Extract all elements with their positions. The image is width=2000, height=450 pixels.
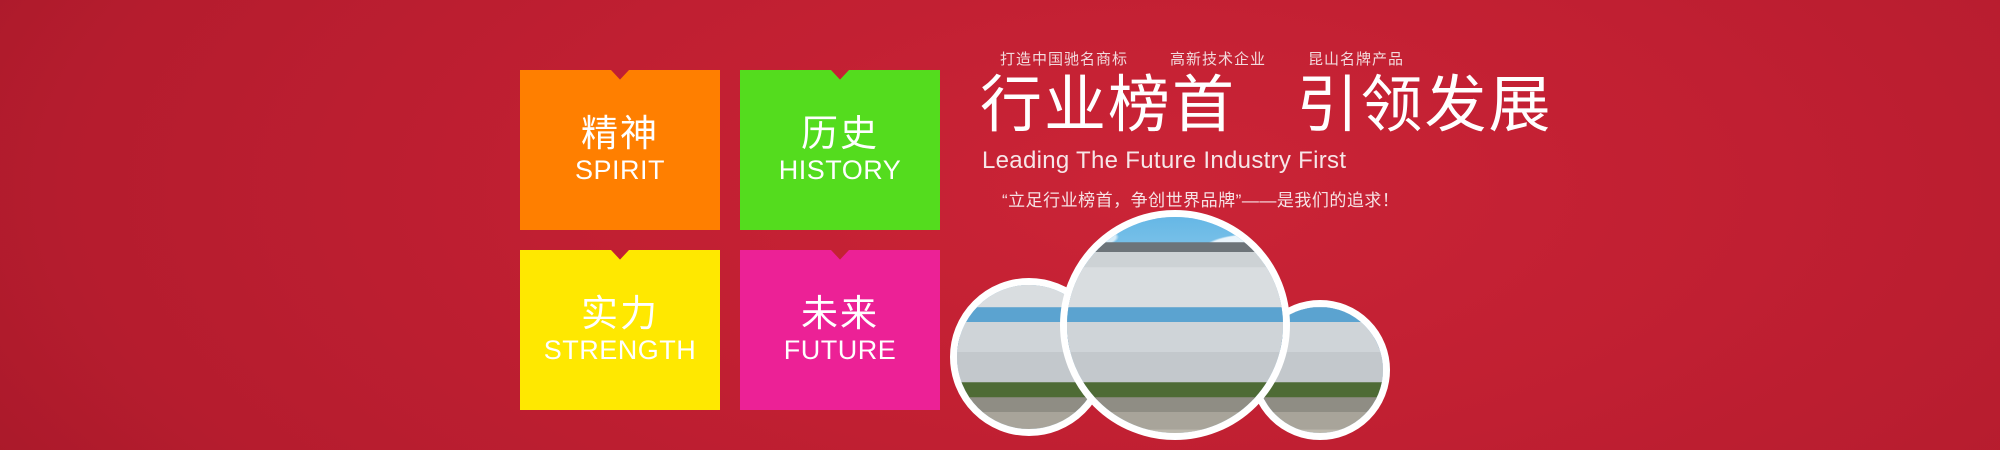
headline-subtitle: Leading The Future Industry First bbox=[982, 147, 1520, 175]
credential-row: 打造中国驰名商标 高新技术企业 昆山名牌产品 bbox=[1000, 48, 1520, 69]
credential-item-brand: 昆山名牌产品 bbox=[1308, 48, 1404, 69]
page-title: 行业榜首 引领发展 bbox=[980, 75, 1520, 137]
value-tile-grid: 精神 SPIRIT 历史 HISTORY 实力 STRENGTH 未来 FUTU… bbox=[520, 70, 940, 410]
tile-history-cn: 历史 bbox=[801, 114, 879, 154]
tile-strength-en: STRENGTH bbox=[544, 335, 697, 366]
factory-photo-cluster bbox=[950, 200, 1390, 450]
tile-future[interactable]: 未来 FUTURE bbox=[740, 250, 940, 410]
headline-part-left: 行业榜首 bbox=[980, 71, 1236, 140]
tile-future-en: FUTURE bbox=[784, 335, 897, 366]
tile-history[interactable]: 历史 HISTORY bbox=[740, 70, 940, 230]
tile-future-cn: 未来 bbox=[801, 294, 879, 334]
tile-strength[interactable]: 实力 STRENGTH bbox=[520, 250, 720, 410]
tile-strength-cn: 实力 bbox=[581, 294, 659, 334]
factory-building-photo bbox=[1060, 210, 1290, 440]
tile-spirit-cn: 精神 bbox=[581, 114, 659, 154]
credential-item-hightech: 高新技术企业 bbox=[1170, 48, 1266, 69]
headline-block: 打造中国驰名商标 高新技术企业 昆山名牌产品 行业榜首 引领发展 Leading… bbox=[980, 48, 1520, 211]
tile-spirit-en: SPIRIT bbox=[575, 155, 665, 186]
photo-lobe-center bbox=[1060, 210, 1290, 440]
headline-part-right: 引领发展 bbox=[1296, 71, 1552, 140]
promo-banner: 精神 SPIRIT 历史 HISTORY 实力 STRENGTH 未来 FUTU… bbox=[0, 0, 2000, 450]
tile-history-en: HISTORY bbox=[779, 155, 902, 186]
credential-item-trademark: 打造中国驰名商标 bbox=[1000, 48, 1128, 69]
tile-spirit[interactable]: 精神 SPIRIT bbox=[520, 70, 720, 230]
